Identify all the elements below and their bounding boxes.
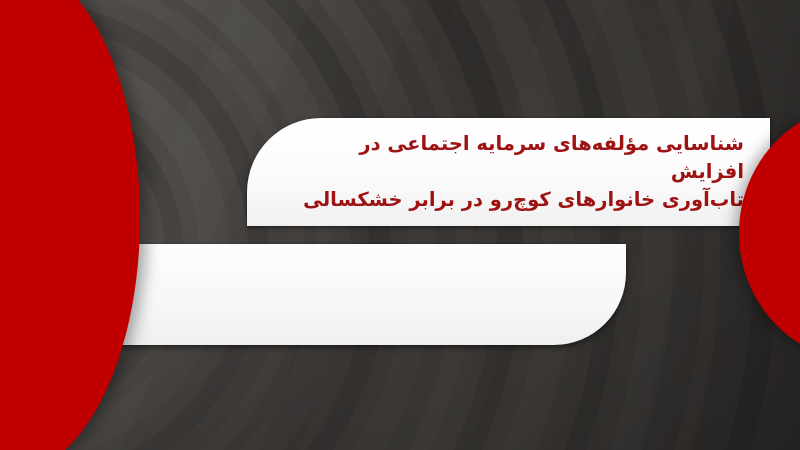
title-panel[interactable]: شناسایی مؤلفه‌های سرمایه اجتماعی در افزا… <box>247 118 770 226</box>
page-title: شناسایی مؤلفه‌های سرمایه اجتماعی در افزا… <box>247 130 770 213</box>
slide-canvas: شناسایی مؤلفه‌های سرمایه اجتماعی در افزا… <box>0 0 800 450</box>
